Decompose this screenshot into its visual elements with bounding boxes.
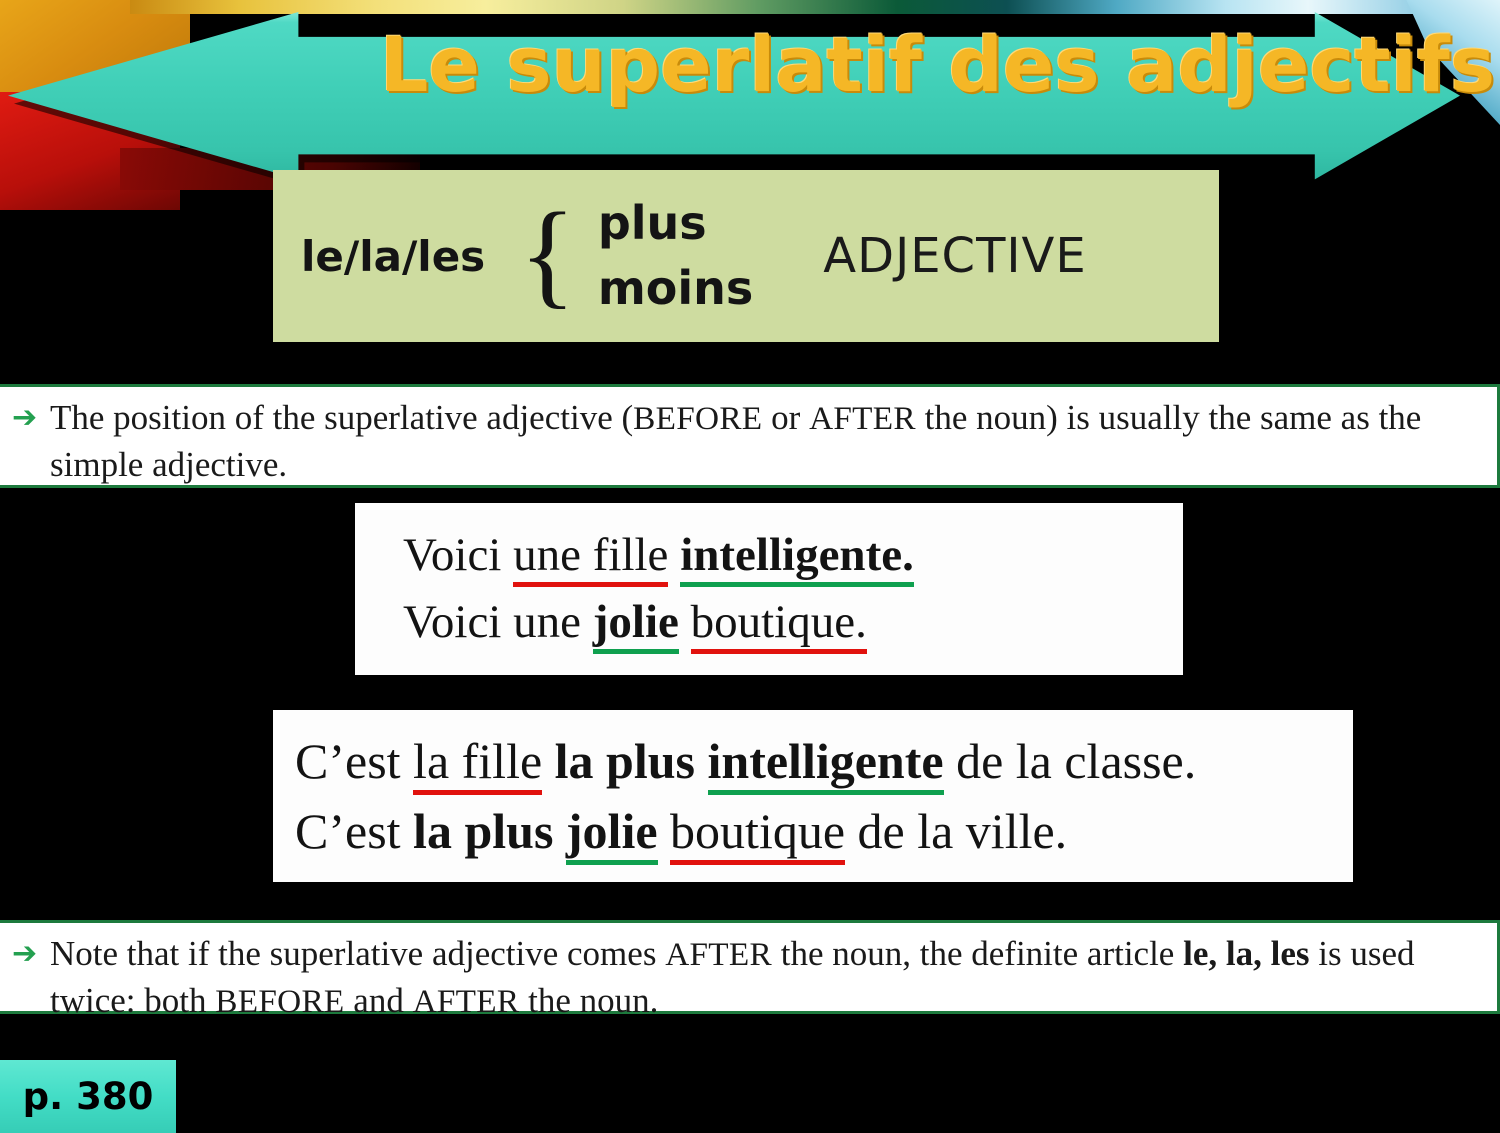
right-arrow-icon: ➔ — [0, 923, 50, 1011]
ex2l2-adjective-underlined-green: jolie — [566, 803, 658, 865]
note2-seg-8: the noun. — [519, 981, 658, 1020]
formula-option-moins: moins — [598, 256, 753, 321]
ex1l1-noun-underlined-red: une fille — [513, 529, 668, 587]
note-text-position-rule: The position of the superlative adjectiv… — [50, 387, 1497, 485]
example-box-superlative-adjective: C’est la fille la plus intelligente de l… — [273, 710, 1353, 882]
ex1l1-space — [668, 529, 680, 581]
example-box-simple-adjective: Voici une fille intelligente. Voici une … — [355, 503, 1183, 675]
slide-canvas: Le superlatif des adjectifs le/la/les { … — [0, 0, 1500, 1133]
note2-seg-1: AFTER — [665, 936, 772, 973]
example2-line-2: C’est la plus jolie boutique de la ville… — [295, 796, 1353, 866]
ex2l1-plain1: C’est — [295, 733, 413, 789]
ex2l2-plain1: C’est — [295, 803, 413, 859]
ex2l2-noun-underlined-red: boutique — [670, 803, 845, 865]
ex2l2-plain2: de la ville. — [845, 803, 1067, 859]
ex1l1-adjective-underlined-green: intelligente. — [680, 529, 914, 587]
note1-seg-1: BEFORE — [633, 400, 762, 437]
note2-seg-2: the noun, the definite article — [772, 934, 1183, 973]
superlative-formula-box: le/la/les { plus moins ADJECTIVE — [273, 170, 1219, 342]
formula-brace-icon: { — [519, 212, 576, 297]
ex1l2-plain1: Voici une — [403, 596, 593, 648]
ex2l1-superlative-marker: la plus — [542, 733, 707, 789]
formula-option-plus: plus — [598, 191, 753, 256]
example1-line-2: Voici une jolie boutique. — [403, 589, 1183, 656]
ex1l2-noun-underlined-red: boutique. — [691, 596, 867, 654]
ex2l1-plain2: de la classe. — [944, 733, 1197, 789]
note-text-double-article-rule: Note that if the superlative adjective c… — [50, 923, 1497, 1011]
note2-seg-0: Note that if the superlative adjective c… — [50, 934, 665, 973]
note1-seg-2: or — [762, 398, 809, 437]
ex1l2-space — [679, 596, 691, 648]
formula-options-stack: plus moins — [598, 191, 753, 322]
note1-seg-3: AFTER — [809, 400, 916, 437]
page-title: Le superlatif des adjectifs — [380, 22, 1460, 108]
note2-seg-5: BEFORE — [215, 983, 344, 1020]
example2-line-1: C’est la fille la plus intelligente de l… — [295, 726, 1353, 796]
note-block-position-rule: ➔ The position of the superlative adject… — [0, 384, 1500, 488]
page-reference-badge: p. 380 — [0, 1060, 176, 1133]
ex1l2-adjective-underlined-green: jolie — [593, 596, 679, 654]
right-arrow-icon: ➔ — [0, 387, 50, 485]
note-block-double-article-rule: ➔ Note that if the superlative adjective… — [0, 920, 1500, 1014]
note2-seg-7: AFTER — [413, 983, 520, 1020]
ex1l1-plain1: Voici — [403, 529, 513, 581]
ex2l2-space — [658, 803, 671, 859]
ex2l2-superlative-marker: la plus — [413, 803, 566, 859]
formula-adjective-placeholder: ADJECTIVE — [823, 228, 1086, 284]
ex2l1-adjective-underlined-green: intelligente — [708, 733, 944, 795]
note2-seg-6: and — [345, 981, 413, 1020]
note1-seg-0: The position of the superlative adjectiv… — [50, 398, 633, 437]
decorative-top-gradient-strip — [130, 0, 1500, 14]
example1-line-1: Voici une fille intelligente. — [403, 522, 1183, 589]
ex2l1-noun-underlined-red: la fille — [413, 733, 542, 795]
note2-seg-3: le, la, les — [1183, 934, 1309, 973]
formula-definite-articles: le/la/les — [301, 232, 485, 281]
